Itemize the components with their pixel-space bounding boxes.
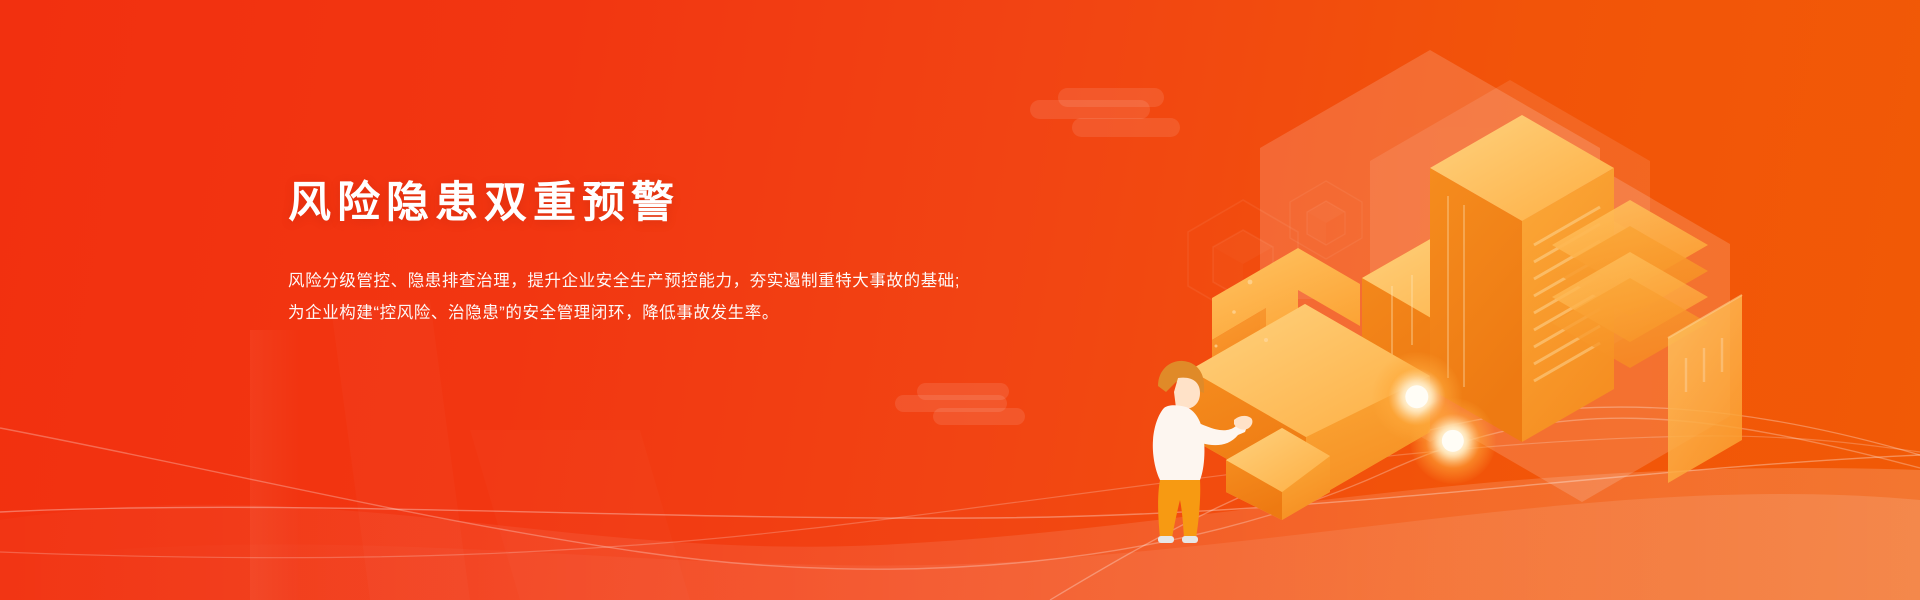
person-pointing-figure <box>1153 361 1253 543</box>
banner-subtitle-line-2: 为企业构建“控风险、治隐患”的安全管理闭环，降低事故发生率。 <box>288 297 1048 329</box>
cloud-decoration-top <box>1030 88 1180 138</box>
banner-subtitle: 风险分级管控、隐患排查治理，提升企业安全生产预控能力，夯实遏制重特大事故的基础;… <box>288 265 1048 329</box>
cube-outline-small-icon <box>1283 175 1369 261</box>
hero-banner: 风险隐患双重预警 风险分级管控、隐患排查治理，提升企业安全生产预控能力，夯实遏制… <box>0 0 1920 600</box>
glow-dot-upper <box>1372 352 1462 442</box>
glow-dot-lower <box>1410 398 1496 484</box>
isometric-illustration <box>1130 40 1770 560</box>
cube-outline-large-icon <box>1178 190 1308 320</box>
banner-subtitle-line-1: 风险分级管控、隐患排查治理，提升企业安全生产预控能力，夯实遏制重特大事故的基础; <box>288 265 1048 297</box>
banner-headline: 风险隐患双重预警 <box>288 178 1048 230</box>
banner-copy: 风险隐患双重预警 风险分级管控、隐患排查治理，提升企业安全生产预控能力，夯实遏制… <box>288 178 1048 329</box>
cloud-decoration-middle <box>895 383 1025 425</box>
isometric-illustration-svg <box>1130 40 1770 560</box>
cloud-decoration-small <box>1262 276 1332 300</box>
